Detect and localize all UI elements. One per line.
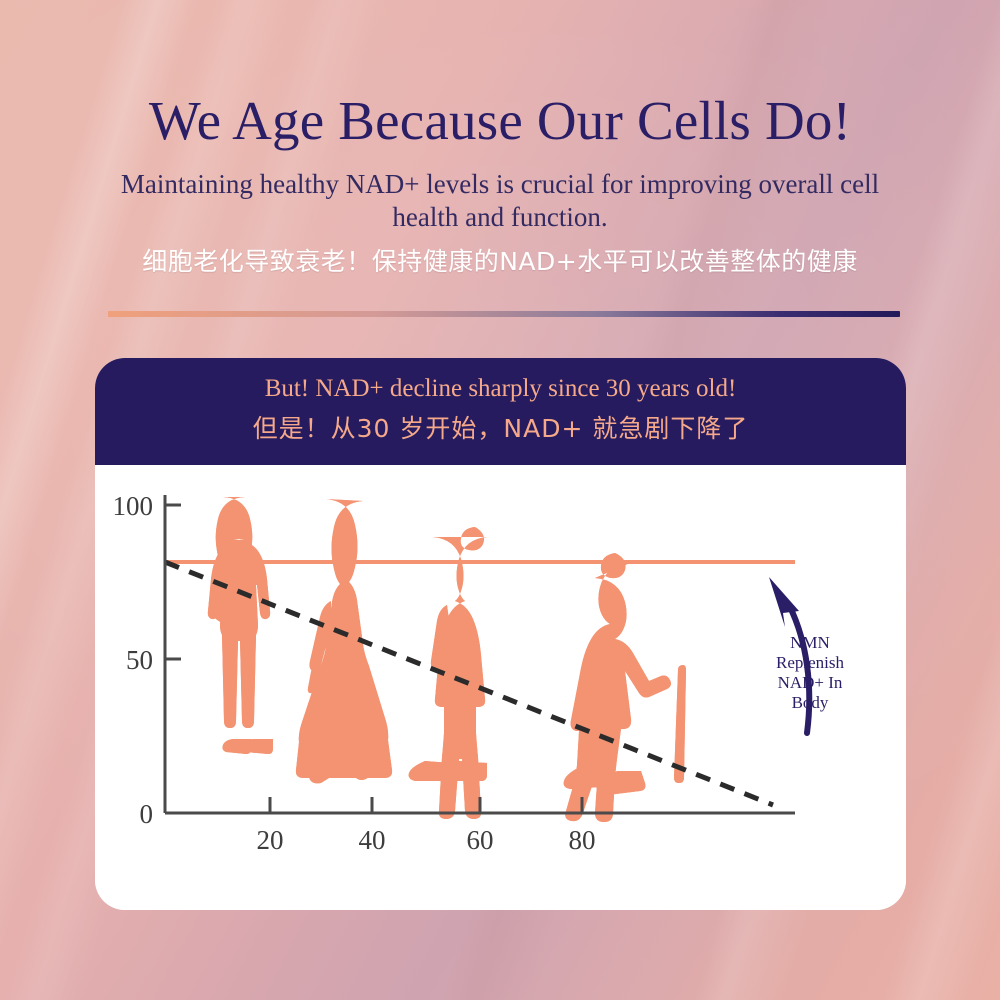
- x-tick-label-20: 20: [257, 825, 284, 855]
- banner-text-chinese: 但是！从30 岁开始，NAD+ 就急剧下降了: [95, 413, 906, 445]
- x-tick-label-60: 60: [467, 825, 494, 855]
- nmn-annotation: NMN Replenish NAD+ In Body: [762, 633, 858, 713]
- nmn-annotation-line-2: Replenish: [762, 653, 858, 673]
- y-tick-label-50: 50: [126, 645, 153, 675]
- nmn-annotation-line-1: NMN: [762, 633, 858, 653]
- figure-group: [208, 497, 686, 822]
- subtitle-chinese: 细胞老化导致衰老！保持健康的NAD+水平可以改善整体的健康: [80, 246, 920, 278]
- page-title: We Age Because Our Cells Do!: [0, 90, 1000, 152]
- card-banner: But! NAD+ decline sharply since 30 years…: [95, 358, 906, 465]
- y-tick-label-100: 100: [113, 491, 154, 521]
- nmn-annotation-line-3: NAD+ In: [762, 673, 858, 693]
- nmn-annotation-line-4: Body: [762, 693, 858, 713]
- gradient-divider: [108, 311, 900, 317]
- banner-text-english: But! NAD+ decline sharply since 30 years…: [95, 374, 906, 404]
- subtitle-english: Maintaining healthy NAD+ levels is cruci…: [110, 168, 890, 234]
- x-tick-label-40: 40: [359, 825, 386, 855]
- poster-root: We Age Because Our Cells Do! Maintaining…: [0, 0, 1000, 1000]
- y-tick-label-0: 0: [140, 799, 154, 829]
- x-tick-label-80: 80: [569, 825, 596, 855]
